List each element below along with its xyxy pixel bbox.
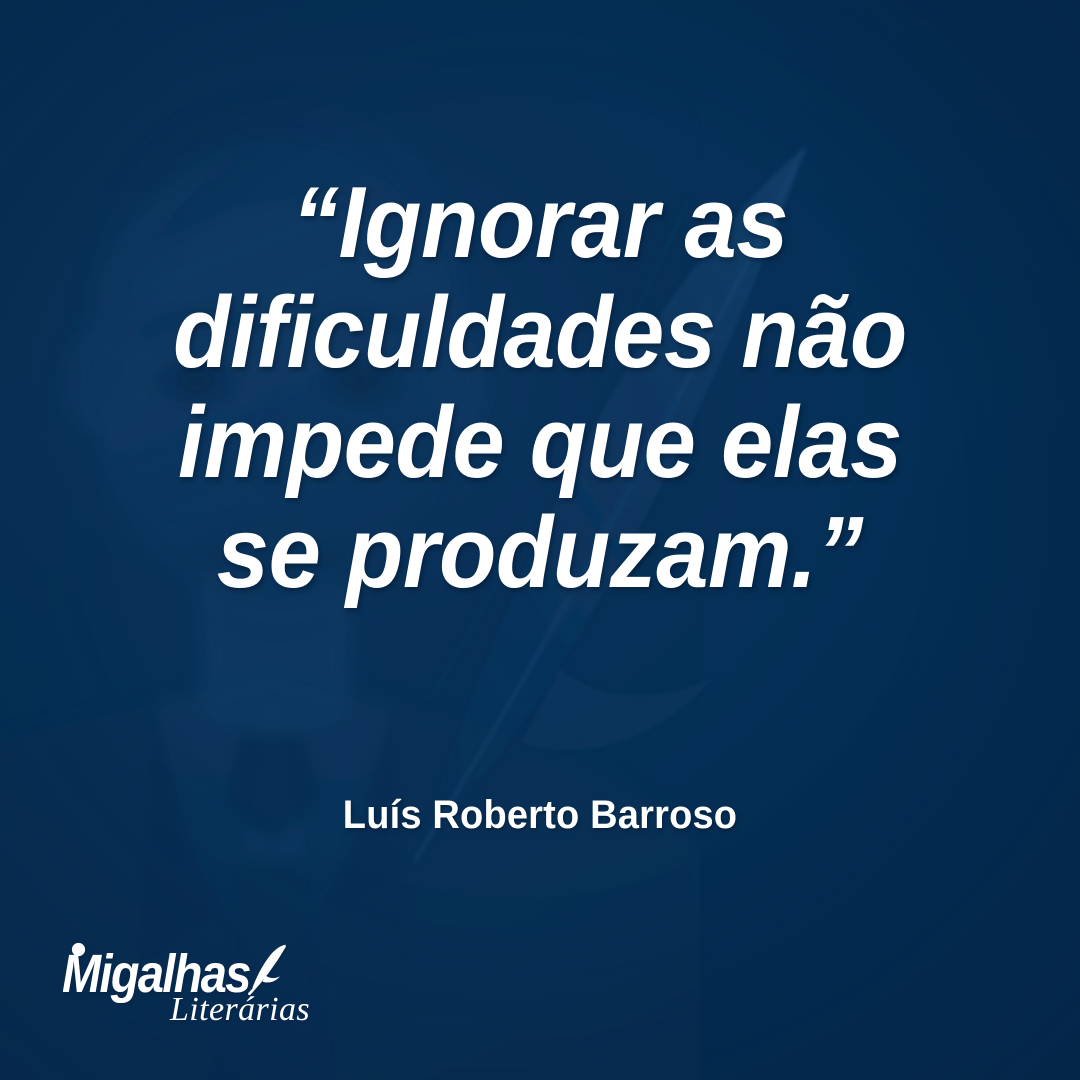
- quote-line-3: impede que elas: [90, 388, 990, 498]
- quote-line-1: “Ignorar as: [90, 168, 990, 278]
- quill-feather-icon: [249, 945, 286, 994]
- quote-author: Luís Roberto Barroso: [27, 793, 1053, 838]
- migalhas-literarias-logo[interactable]: Migalhas Literárias: [62, 942, 314, 1024]
- quote-line-2: dificuldades não: [90, 278, 990, 388]
- logo-wordmark-literarias: Literárias: [169, 991, 310, 1028]
- quote-text: “Ignorar as dificuldades não impede que …: [0, 168, 1080, 608]
- quote-line-4: se produzam.”: [90, 498, 990, 608]
- logo-m-dot-icon: [72, 943, 85, 956]
- quote-card: “Ignorar as dificuldades não impede que …: [0, 0, 1080, 1080]
- card-content: “Ignorar as dificuldades não impede que …: [0, 0, 1080, 1080]
